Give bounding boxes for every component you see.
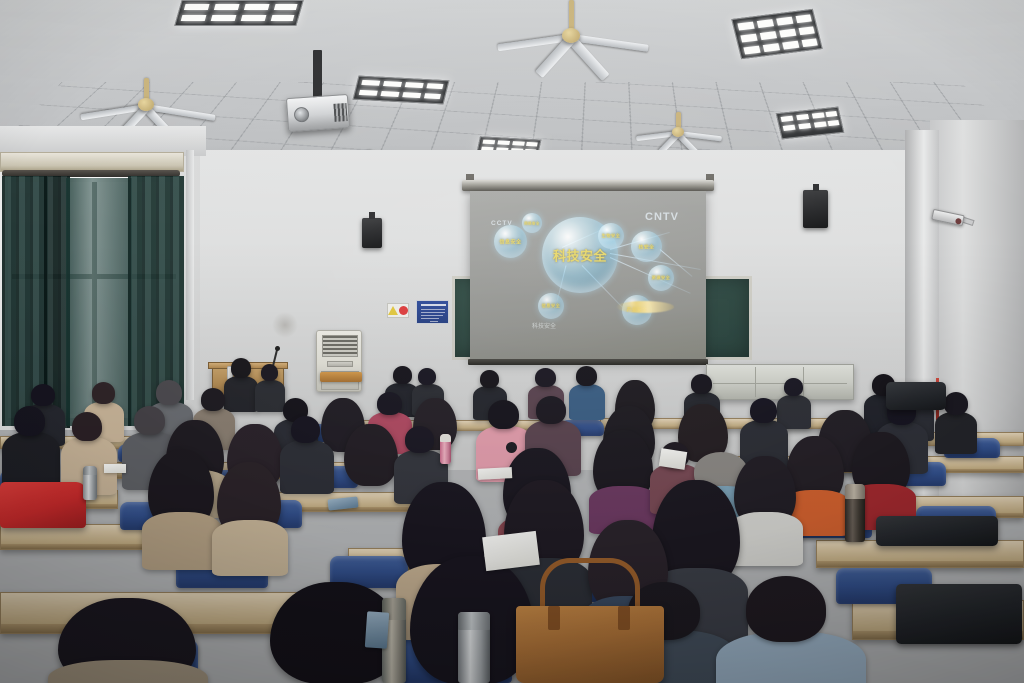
wall-speaker-left xyxy=(362,218,382,248)
slide-bubble-satellite: 网络安全 xyxy=(522,213,542,233)
water-bottle xyxy=(440,434,451,464)
black-bag xyxy=(886,382,946,410)
slide-bubble-label: 资源安全 xyxy=(648,275,674,281)
stainless-thermos xyxy=(458,612,490,683)
smartphone[interactable] xyxy=(365,611,389,648)
slide-bubble-label: 信息安全 xyxy=(494,238,527,245)
shirt-button-detail xyxy=(506,442,517,453)
safety-warning-sign xyxy=(387,303,409,318)
dark-thermos xyxy=(845,484,865,542)
information-placard xyxy=(416,300,449,324)
red-handbag xyxy=(0,482,86,528)
right-pillar xyxy=(905,130,939,550)
cntv-logo: CNTV xyxy=(645,211,679,223)
storage-cabinet[interactable] xyxy=(706,364,854,400)
prohibition-icon xyxy=(399,306,408,315)
wall-scuff xyxy=(272,312,298,338)
slide-bubble-satellite: 生物安全 xyxy=(598,223,624,249)
cctv-logo: CCTV xyxy=(491,220,513,227)
slide-sparkle xyxy=(616,301,674,313)
handbag-handle xyxy=(540,558,640,606)
paper-notes xyxy=(482,531,540,571)
slide-bubble-satellite: 核安全 xyxy=(631,231,662,262)
slide-bubble-label: 核安全 xyxy=(631,243,662,250)
paper-notes xyxy=(659,448,687,470)
slide-bubble-label: 生物安全 xyxy=(598,233,624,239)
slide-bubble-label: 网络安全 xyxy=(522,221,542,226)
desk-item-box xyxy=(320,372,362,382)
microphone-icon xyxy=(275,346,280,351)
slide-bubble-satellite: 信息安全 xyxy=(538,293,564,319)
lecture-hall-photo: 科技安全 信息安全 网络安全 生物安全 核安全 资源安全 产业安全 信息安全 C… xyxy=(0,0,1024,683)
ac-control-panel[interactable] xyxy=(327,361,353,367)
curtain-valance xyxy=(0,152,184,172)
paper-notes xyxy=(478,467,513,480)
ceiling-light-fixture xyxy=(353,76,450,105)
slide-bubble-label: 信息安全 xyxy=(538,303,564,309)
paper-notes xyxy=(104,464,126,473)
slide-bubble-satellite: 信息安全 xyxy=(494,225,527,258)
stainless-thermos xyxy=(83,466,97,500)
camera-lens-icon xyxy=(955,218,962,225)
projector-lens-icon xyxy=(294,107,310,123)
slide-bubble-satellite: 资源安全 xyxy=(648,265,674,291)
projection-screen-housing xyxy=(462,180,714,191)
black-laptop-case xyxy=(876,516,998,546)
wall-edge-left xyxy=(186,150,194,400)
projection-screen-weight-bar xyxy=(468,359,708,365)
floor-air-conditioner[interactable] xyxy=(316,330,362,392)
handbag-strap-detail xyxy=(618,606,630,630)
handbag-strap-detail xyxy=(548,606,560,630)
ac-grille xyxy=(322,335,358,357)
projector-vent xyxy=(333,103,347,122)
wall-speaker-right xyxy=(803,190,828,228)
ceiling-light-fixture xyxy=(174,0,303,26)
tan-leather-handbag xyxy=(516,606,664,683)
slide-caption: 科技安全 xyxy=(532,321,556,330)
projection-screen[interactable]: 科技安全 信息安全 网络安全 生物安全 核安全 资源安全 产业安全 信息安全 C… xyxy=(470,191,706,361)
warning-triangle-icon xyxy=(388,306,398,315)
projector xyxy=(286,94,350,132)
black-bag xyxy=(896,584,1022,644)
